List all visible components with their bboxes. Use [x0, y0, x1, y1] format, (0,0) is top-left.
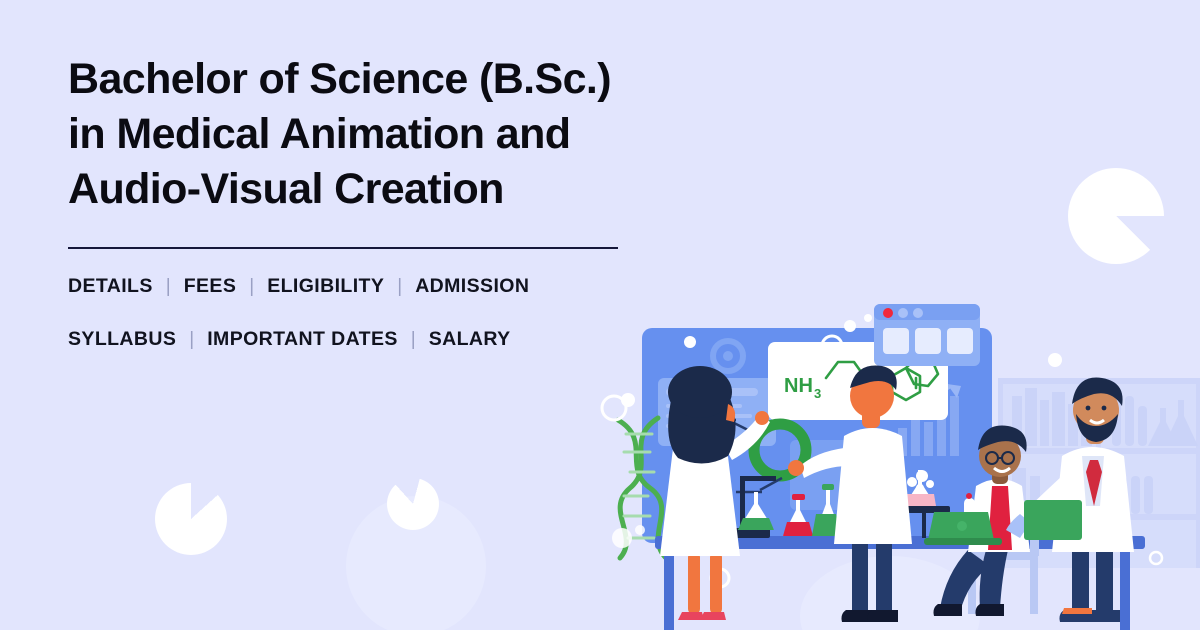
browser-window-mockup [874, 304, 980, 366]
decorative-pacman-bottom-left [155, 483, 227, 555]
header-content: Bachelor of Science (B.Sc.) in Medical A… [68, 52, 648, 351]
page-title: Bachelor of Science (B.Sc.) in Medical A… [68, 52, 648, 217]
window-max-dot [913, 308, 923, 318]
nav-item-syllabus[interactable]: SYLLABUS [68, 328, 176, 351]
nav-separator: | [384, 276, 415, 298]
section-nav-row-1: DETAILS | FEES | ELIGIBILITY | ADMISSION [68, 275, 529, 298]
green-cabinet [1024, 500, 1082, 540]
nav-separator: | [176, 329, 207, 351]
decorative-circle-bottom-left [346, 496, 486, 630]
molecule-formula-subscript: 3 [814, 386, 821, 401]
nav-item-fees[interactable]: FEES [184, 275, 237, 298]
nav-item-salary[interactable]: SALARY [429, 328, 511, 351]
laboratory-illustration: NH 3 [600, 300, 1200, 630]
nav-item-eligibility[interactable]: ELIGIBILITY [267, 275, 384, 298]
window-min-dot [898, 308, 908, 318]
nav-separator: | [236, 276, 267, 298]
lab-scene-svg: NH 3 [600, 300, 1200, 630]
nav-separator: | [398, 329, 429, 351]
nav-separator: | [153, 276, 184, 298]
section-nav-row-2: SYLLABUS | IMPORTANT DATES | SALARY [68, 328, 511, 351]
nav-item-admission[interactable]: ADMISSION [415, 275, 529, 298]
decorative-pacman-bottom-mid [387, 478, 439, 530]
decorative-pacman-top-right [1068, 168, 1164, 264]
title-divider [68, 247, 618, 249]
nav-item-important-dates[interactable]: IMPORTANT DATES [207, 328, 398, 351]
window-close-dot [883, 308, 893, 318]
nav-item-details[interactable]: DETAILS [68, 275, 153, 298]
section-nav: DETAILS | FEES | ELIGIBILITY | ADMISSION… [68, 275, 628, 351]
molecule-formula-label: NH [784, 375, 813, 397]
